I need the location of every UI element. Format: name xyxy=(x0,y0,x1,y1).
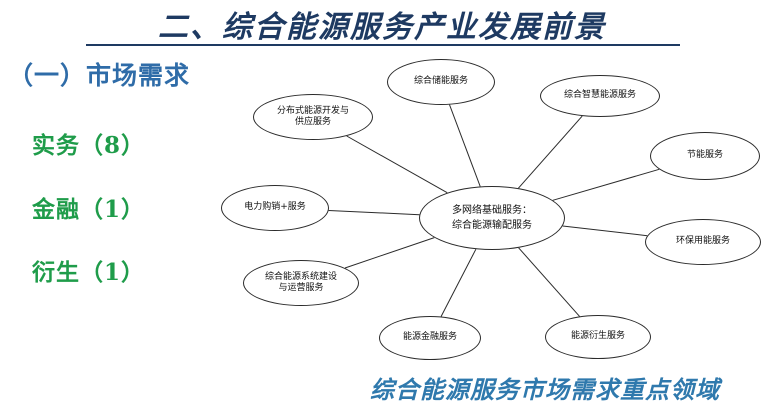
node-节能服务: 节能服务 xyxy=(650,132,760,180)
node-综合智慧能源服务: 综合智慧能源服务 xyxy=(540,75,660,117)
diagram-edge xyxy=(553,169,659,200)
diagram-edge xyxy=(518,116,582,188)
node-环保用能服务: 环保用能服务 xyxy=(645,219,761,265)
node-电力购销-服务: 电力购销+服务 xyxy=(221,185,329,231)
diagram-edge xyxy=(347,136,448,193)
node-综合能源系统建设-与运营服务: 综合能源系统建设 与运营服务 xyxy=(243,260,359,306)
diagram-edge xyxy=(345,238,434,268)
diagram-center-node: 多网络基础服务： 综合能源输配服务 xyxy=(419,186,565,250)
diagram-edge xyxy=(519,248,580,317)
diagram-edge xyxy=(441,249,476,316)
node-分布式能源开发与-供应服务: 分布式能源开发与 供应服务 xyxy=(253,94,373,140)
node-能源金融服务: 能源金融服务 xyxy=(379,316,481,360)
node-综合储能服务: 综合储能服务 xyxy=(387,59,495,105)
presentation-slide: 二、综合能源服务产业发展前景 （一）市场需求 实务（8） 金融（1） 衍生（1）… xyxy=(0,0,764,406)
diagram-edge xyxy=(450,105,481,187)
diagram-edge xyxy=(563,226,648,236)
diagram-caption: 综合能源服务市场需求重点领域 xyxy=(330,370,760,405)
node-能源衍生服务: 能源衍生服务 xyxy=(545,315,651,359)
diagram-edge xyxy=(329,211,420,215)
